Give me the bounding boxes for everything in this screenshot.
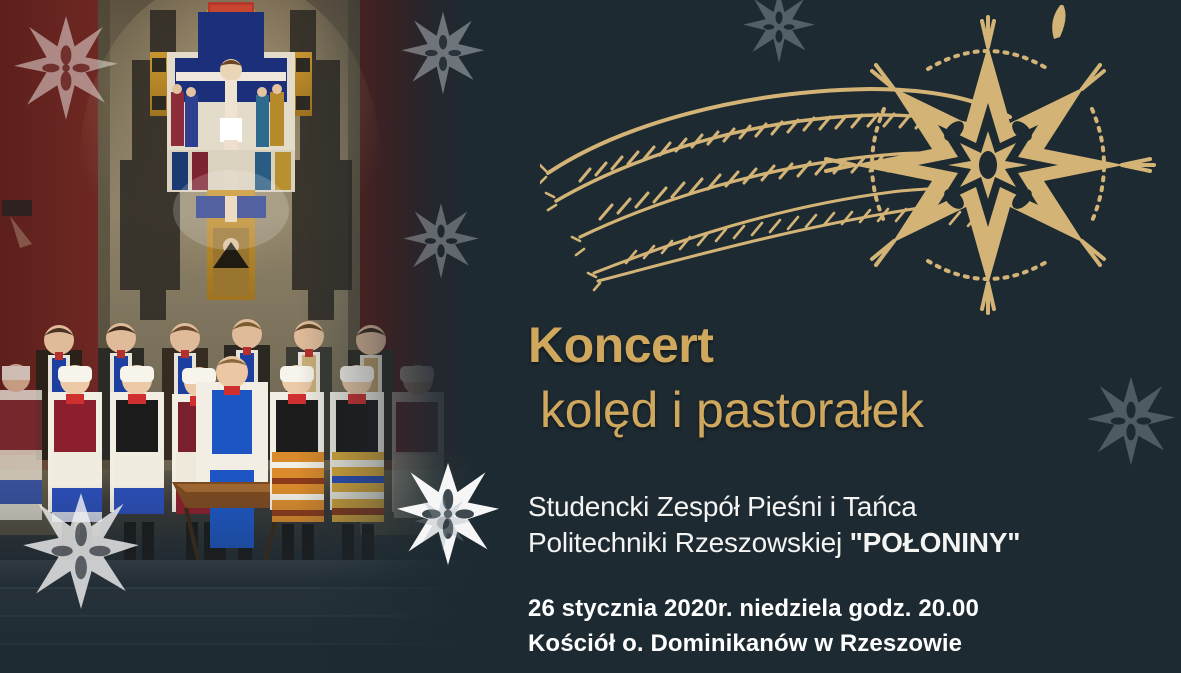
ensemble-line-2: Politechniki Rzeszowskiej "POŁONINY" — [528, 525, 1148, 562]
snowflake-top-center — [740, 0, 818, 66]
page-subtitle: kolęd i pastorałek — [540, 384, 1148, 437]
steps — [0, 560, 480, 673]
event-details: 26 stycznia 2020r. niedziela godz. 20.00… — [528, 592, 1148, 662]
event-venue: Kościół o. Dominikanów w Rzeszowie — [528, 627, 1148, 662]
poster-text-block: Koncert kolęd i pastorałek Studencki Zes… — [528, 320, 1148, 662]
ensemble-institution: Politechniki Rzeszowskiej — [528, 527, 850, 558]
ensemble-name: Studencki Zespół Pieśni i Tańca Politech… — [528, 489, 1148, 563]
poster: Koncert kolęd i pastorałek Studencki Zes… — [0, 0, 1181, 673]
ensemble-line-1: Studencki Zespół Pieśni i Tańca — [528, 489, 1148, 526]
page-title: Koncert — [528, 320, 1148, 370]
comet-star-icon — [540, 5, 1181, 315]
ensemble-group-name: "POŁONINY" — [850, 527, 1021, 558]
event-datetime: 26 stycznia 2020r. niedziela godz. 20.00 — [528, 592, 1148, 627]
concert-photo — [0, 0, 480, 673]
